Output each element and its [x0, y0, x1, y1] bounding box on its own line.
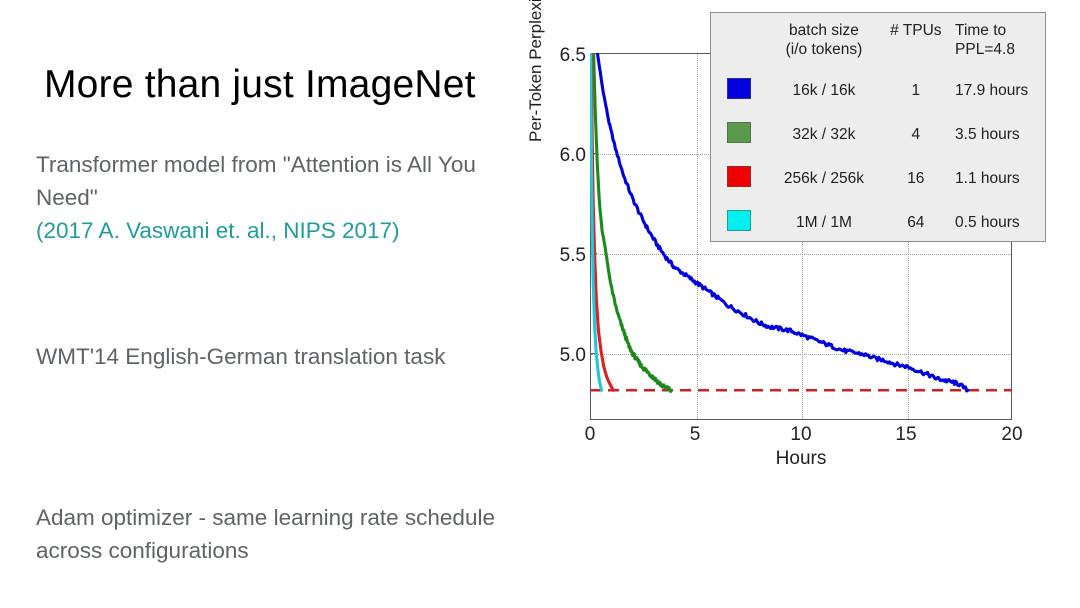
bullet-text: Transformer model from "Attention is All… [36, 152, 476, 210]
legend-color-swatch [711, 113, 767, 157]
legend-body: 16k / 16k117.9 hours32k / 32k43.5 hours2… [711, 69, 1045, 245]
chart-legend: batch size (i/o tokens) # TPUs Time to P… [710, 12, 1046, 242]
legend-row: 1M / 1M640.5 hours [711, 201, 1045, 245]
legend-batch-size: 1M / 1M [767, 201, 880, 245]
legend-header-row: batch size (i/o tokens) # TPUs Time to P… [711, 13, 1045, 69]
bullet-text: Adam optimizer - same learning rate sche… [36, 505, 495, 563]
perplexity-chart: Per-Token Perplexity 6.5 6.0 5.5 5.0 0 5… [520, 0, 1080, 608]
legend-time-to-ppl: 1.1 hours [951, 157, 1045, 201]
x-tick-label: 10 [771, 424, 831, 446]
y-tick-label: 6.0 [534, 145, 586, 167]
x-tick-label: 20 [982, 424, 1042, 446]
legend-time-to-ppl: 3.5 hours [951, 113, 1045, 157]
legend-tpu-count: 1 [881, 69, 951, 113]
y-tick-label: 6.5 [534, 45, 586, 67]
chart-x-axis-label: Hours [590, 448, 1012, 470]
legend-time-to-ppl: 0.5 hours [951, 201, 1045, 245]
legend-header-batch-line2: (i/o tokens) [786, 41, 863, 58]
legend-batch-size: 256k / 256k [767, 157, 880, 201]
legend-color-swatch [711, 201, 767, 245]
legend-header-swatch [711, 13, 767, 69]
legend-time-to-ppl: 17.9 hours [951, 69, 1045, 113]
legend-color-swatch [711, 69, 767, 113]
legend-batch-size: 16k / 16k [767, 69, 880, 113]
text-column: More than just ImageNet Transformer mode… [0, 0, 540, 608]
chart-y-ticks: 6.5 6.0 5.5 5.0 [520, 0, 586, 608]
bullet-item: Adam optimizer - same learning rate sche… [36, 501, 516, 567]
x-tick-label: 5 [665, 424, 725, 446]
bullet-item: WMT'14 English-German translation task [36, 340, 516, 373]
legend-tpu-count: 16 [881, 157, 951, 201]
x-tick-label: 0 [560, 424, 620, 446]
bullet-text: WMT'14 English-German translation task [36, 344, 445, 369]
legend-header-tpus: # TPUs [881, 13, 951, 69]
bullet-citation: (2017 A. Vaswani et. al., NIPS 2017) [36, 214, 516, 247]
bullet-item: Transformer model from "Attention is All… [36, 148, 516, 247]
legend-header-time: Time to PPL=4.8 [951, 13, 1045, 69]
slide-root: More than just ImageNet Transformer mode… [0, 0, 1080, 608]
legend-tpu-count: 64 [881, 201, 951, 245]
legend-row: 16k / 16k117.9 hours [711, 69, 1045, 113]
y-tick-label: 5.0 [534, 345, 586, 367]
legend-table: batch size (i/o tokens) # TPUs Time to P… [711, 13, 1045, 245]
legend-header-time-line1: Time to [955, 22, 1006, 39]
legend-header-batch-line1: batch size [789, 22, 859, 39]
x-tick-label: 15 [876, 424, 936, 446]
legend-header-time-line2: PPL=4.8 [955, 41, 1015, 58]
legend-batch-size: 32k / 32k [767, 113, 880, 157]
legend-tpu-count: 4 [881, 113, 951, 157]
legend-color-swatch [711, 157, 767, 201]
page-title: More than just ImageNet [44, 62, 476, 108]
legend-row: 256k / 256k161.1 hours [711, 157, 1045, 201]
legend-row: 32k / 32k43.5 hours [711, 113, 1045, 157]
legend-header-batch-size: batch size (i/o tokens) [767, 13, 880, 69]
y-tick-label: 5.5 [534, 245, 586, 267]
